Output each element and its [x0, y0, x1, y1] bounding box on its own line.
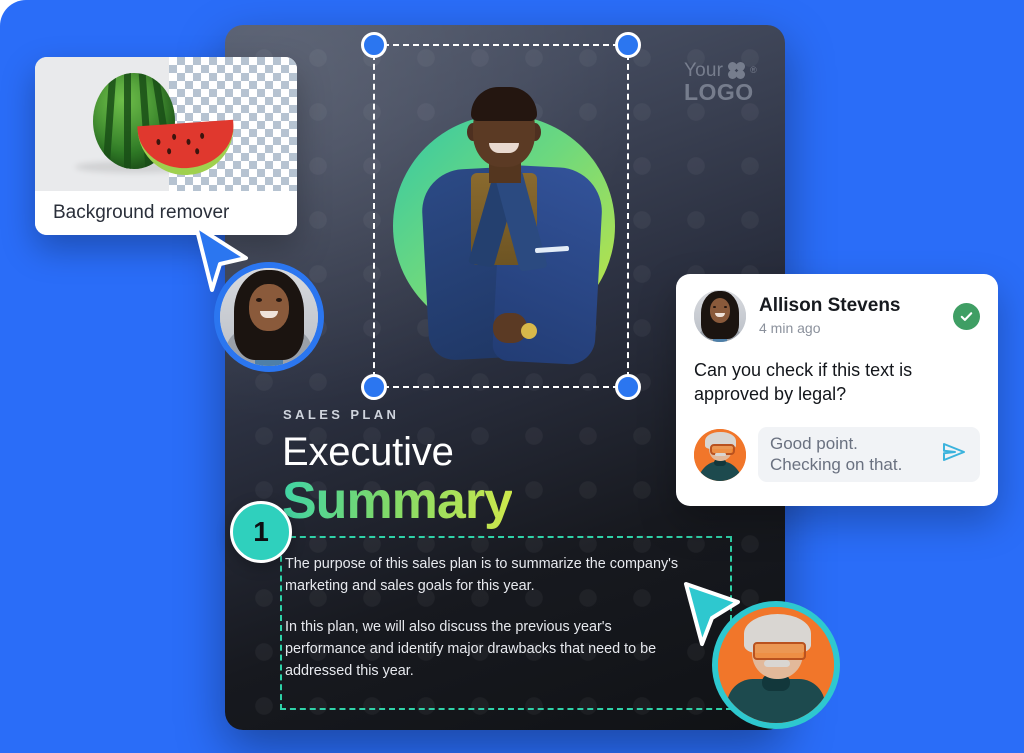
slide-paragraph-1: The purpose of this sales plan is to sum…	[285, 553, 685, 598]
resize-handle-top-right[interactable]	[615, 32, 641, 58]
slide-body-text[interactable]: The purpose of this sales plan is to sum…	[285, 553, 685, 683]
comment-text: Can you check if this text is approved b…	[694, 358, 954, 407]
comment-author-name: Allison Stevens	[759, 296, 940, 317]
comment-card[interactable]: Allison Stevens 4 min ago Can you check …	[676, 274, 998, 506]
send-icon[interactable]	[940, 440, 968, 469]
comment-author-avatar[interactable]	[694, 290, 746, 342]
comment-timestamp: 4 min ago	[759, 320, 940, 336]
background-remover-card[interactable]: Background remover	[35, 57, 297, 235]
reply-author-avatar[interactable]	[694, 429, 746, 481]
slide-kicker: SALES PLAN	[283, 407, 399, 422]
resize-handle-top-left[interactable]	[361, 32, 387, 58]
slide-logo: Your ® LOGO	[684, 61, 757, 104]
logo-trademark: ®	[750, 66, 757, 75]
image-selection-box[interactable]	[373, 44, 629, 388]
reply-input[interactable]: Good point. Checking on that.	[758, 427, 980, 482]
clover-logo-mark-icon	[728, 62, 745, 79]
resize-handle-bottom-left[interactable]	[361, 374, 387, 400]
comment-number-badge[interactable]: 1	[230, 501, 292, 563]
logo-text-line2: LOGO	[684, 81, 757, 104]
check-circle-icon[interactable]	[953, 303, 980, 330]
slide-paragraph-2: In this plan, we will also discuss the p…	[285, 616, 685, 683]
slide-title-line1: Executive	[282, 430, 454, 475]
reply-input-value[interactable]: Good point. Checking on that.	[770, 434, 932, 475]
comment-header: Allison Stevens 4 min ago	[694, 290, 980, 342]
app-canvas: Your ® LOGO	[0, 0, 1024, 753]
background-remover-label: Background remover	[35, 191, 297, 235]
resize-handle-bottom-right[interactable]	[615, 374, 641, 400]
woman-avatar[interactable]	[214, 262, 324, 372]
senior-man-avatar[interactable]	[712, 601, 840, 729]
logo-text-line1: Your	[684, 61, 723, 80]
slide-title-line2: Summary	[282, 471, 512, 531]
comment-reply-row: Good point. Checking on that.	[694, 427, 980, 482]
watermelon-photo	[35, 57, 297, 191]
